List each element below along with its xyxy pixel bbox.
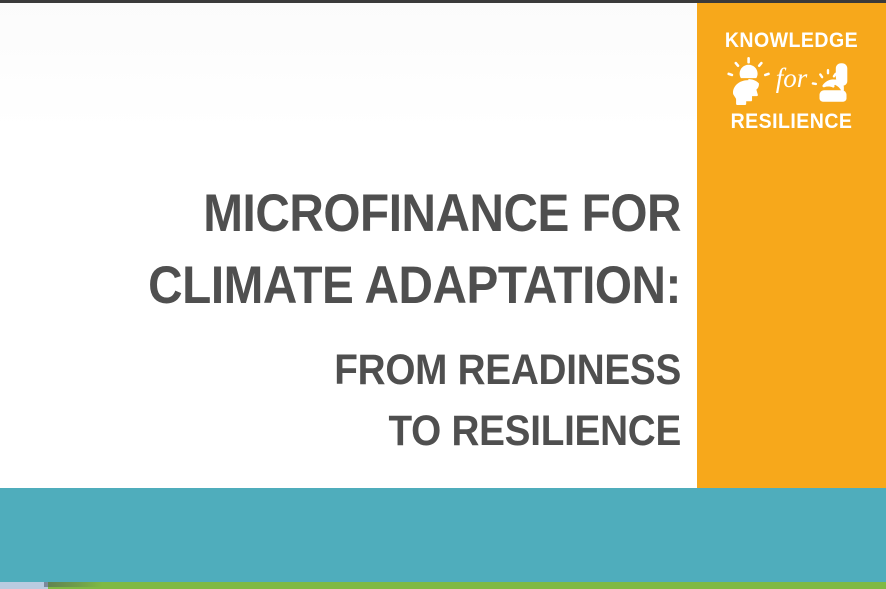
bottom-left-smudge xyxy=(44,582,102,587)
page-title: MICROFINANCE FOR CLIMATE ADAPTATION: xyxy=(0,178,681,322)
subtitle-line-2: TO RESILIENCE xyxy=(68,401,681,462)
logo-icon-row: for xyxy=(697,55,886,107)
teal-bottom-band xyxy=(0,488,886,589)
title-slide: KNOWLEDGE xyxy=(0,0,886,589)
flexing-arm-icon xyxy=(811,57,857,105)
title-line-2: CLIMATE ADAPTATION: xyxy=(68,250,681,322)
head-with-idea-icon xyxy=(726,57,772,105)
top-border-rule xyxy=(0,0,886,3)
title-line-1: MICROFINANCE FOR xyxy=(68,178,681,250)
logo-connector-word: for xyxy=(774,65,810,98)
subtitle-line-1: FROM READINESS xyxy=(68,340,681,401)
knowledge-for-resilience-logo: KNOWLEDGE xyxy=(697,30,886,132)
bottom-left-patch xyxy=(0,582,48,589)
logo-bottom-word: RESILIENCE xyxy=(704,111,880,132)
green-bottom-strip xyxy=(0,582,886,589)
logo-top-word: KNOWLEDGE xyxy=(704,30,880,51)
page-subtitle: FROM READINESS TO RESILIENCE xyxy=(0,340,681,462)
